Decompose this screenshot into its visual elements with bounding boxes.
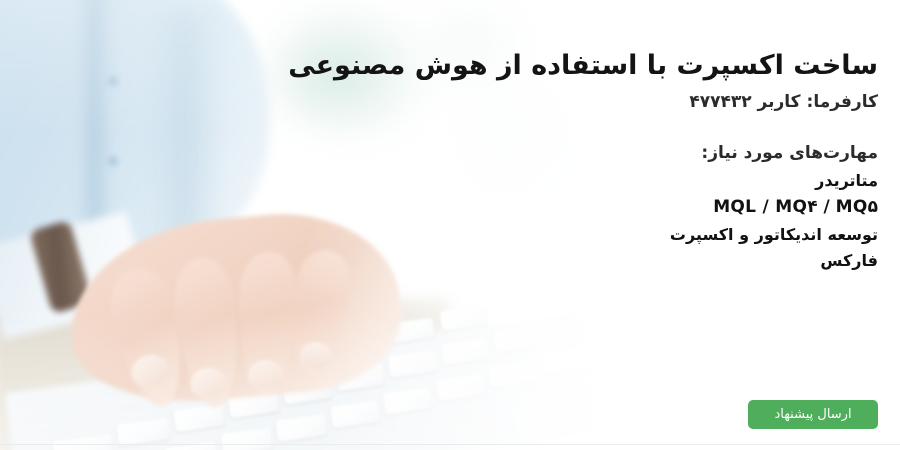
skills-section: مهارت‌های مورد نیاز: متاتریدر MQL / MQ۴ … [218,140,878,274]
project-banner: ساخت اکسپرت با استفاده از هوش مصنوعی کار… [0,0,900,450]
skill-item-metatrader: متاتریدر [218,168,878,194]
submit-proposal-button[interactable]: ارسال پیشنهاد [748,400,878,429]
bottom-divider [0,444,900,445]
skill-item-indicator-expert-development: توسعه اندیکاتور و اکسپرت [218,222,878,248]
skills-heading: مهارت‌های مورد نیاز: [218,140,878,166]
employer-label: کارفرما: [807,92,878,112]
skill-item-forex: فارکس [218,248,878,274]
banner-content: ساخت اکسپرت با استفاده از هوش مصنوعی کار… [0,0,900,450]
employer-row: کارفرما:کاربر ۴۷۷۴۳۲ [218,92,878,112]
skill-item-mql: MQL / MQ۴ / MQ۵ [218,194,878,222]
page-title: ساخت اکسپرت با استفاده از هوش مصنوعی [218,48,878,84]
employer-value: کاربر ۴۷۷۴۳۲ [689,92,800,112]
